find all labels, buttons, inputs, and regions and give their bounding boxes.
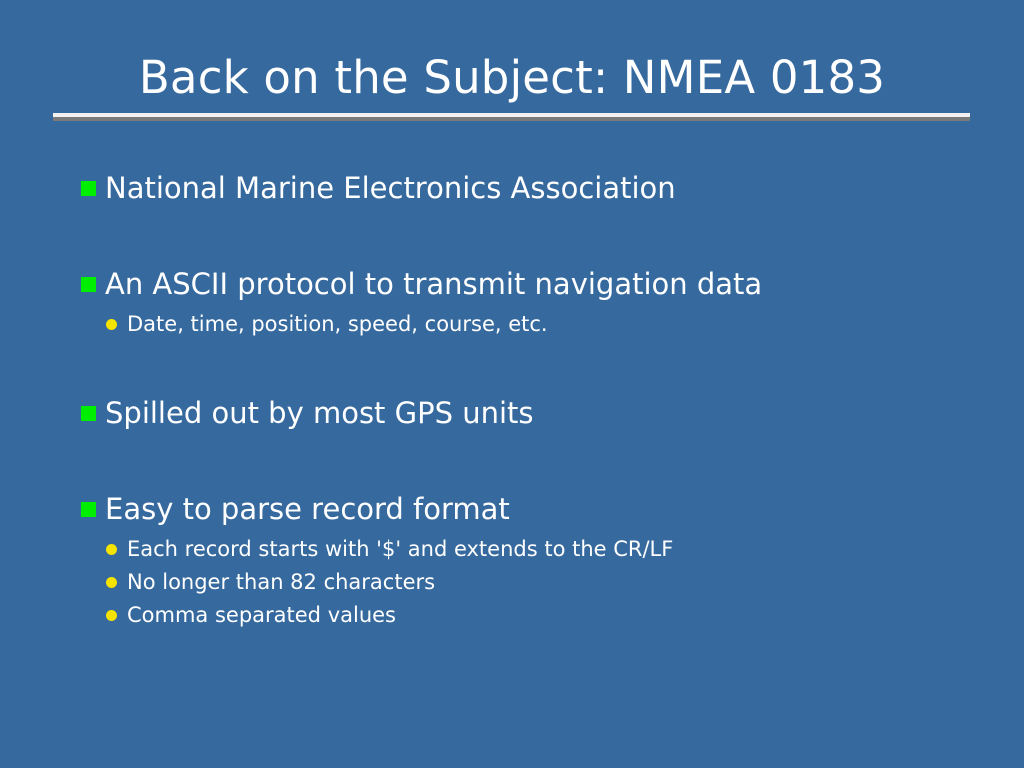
- bullet-group-3: Spilled out by most GPS units: [0, 393, 1024, 435]
- presentation-slide: Back on the Subject: NMEA 0183 National …: [0, 0, 1024, 768]
- spacer: [0, 341, 1024, 393]
- bullet-label: National Marine Electronics Association: [105, 168, 1024, 208]
- bullet-group-1: National Marine Electronics Association: [0, 168, 1024, 210]
- page-title: Back on the Subject: NMEA 0183: [0, 52, 1024, 104]
- dot-bullet-icon: [106, 544, 117, 555]
- sub-bullet-label: Each record starts with '$' and extends …: [127, 533, 1024, 566]
- bullet-item-level1: Easy to parse record format: [0, 489, 1024, 531]
- bullet-item-level2: No longer than 82 characters: [0, 566, 1024, 599]
- square-bullet-icon: [81, 277, 96, 292]
- bullet-group-2: An ASCII protocol to transmit navigation…: [0, 264, 1024, 341]
- title-divider-rule: [53, 113, 970, 117]
- bullet-item-level1: An ASCII protocol to transmit navigation…: [0, 264, 1024, 306]
- bullet-item-level2: Each record starts with '$' and extends …: [0, 533, 1024, 566]
- square-bullet-icon: [81, 502, 96, 517]
- dot-bullet-icon: [106, 610, 117, 621]
- sub-bullet-label: No longer than 82 characters: [127, 566, 1024, 599]
- bullet-label: Easy to parse record format: [105, 489, 1024, 529]
- slide-body-bullet-list: National Marine Electronics Association …: [0, 168, 1024, 632]
- sub-bullet-label: Date, time, position, speed, course, etc…: [127, 308, 1024, 341]
- bullet-label: Spilled out by most GPS units: [105, 393, 1024, 433]
- bullet-label: An ASCII protocol to transmit navigation…: [105, 264, 1024, 304]
- bullet-item-level2: Date, time, position, speed, course, etc…: [0, 308, 1024, 341]
- bullet-item-level1: Spilled out by most GPS units: [0, 393, 1024, 435]
- bullet-item-level1: National Marine Electronics Association: [0, 168, 1024, 210]
- spacer: [0, 212, 1024, 264]
- bullet-item-level2: Comma separated values: [0, 599, 1024, 632]
- bullet-group-4: Easy to parse record format Each record …: [0, 489, 1024, 632]
- spacer: [0, 437, 1024, 489]
- sub-bullet-label: Comma separated values: [127, 599, 1024, 632]
- slide-title-block: Back on the Subject: NMEA 0183: [0, 52, 1024, 104]
- square-bullet-icon: [81, 406, 96, 421]
- dot-bullet-icon: [106, 577, 117, 588]
- square-bullet-icon: [81, 181, 96, 196]
- dot-bullet-icon: [106, 319, 117, 330]
